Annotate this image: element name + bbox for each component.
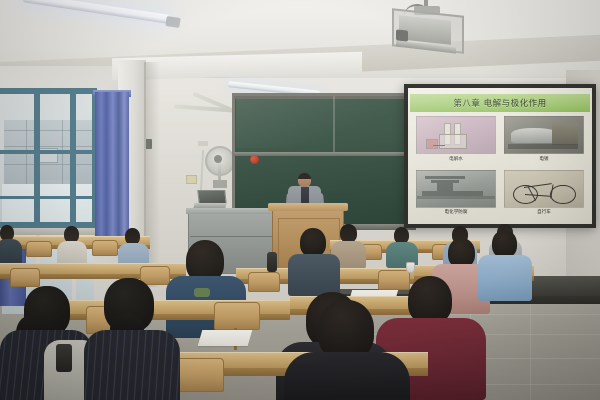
lectern-top [268, 203, 348, 211]
water-bottle [267, 252, 277, 272]
chair-back [26, 241, 52, 257]
thumbnail-electroplating [504, 116, 584, 154]
thumbnail-caption: 电化学防腐 [445, 209, 468, 215]
av-console-seam [190, 236, 284, 237]
laptop-keyboard [193, 203, 226, 208]
chalkboard-glare [236, 98, 410, 148]
window-mullion [70, 88, 76, 229]
lecturer-head [298, 173, 311, 187]
thumbnail-electrolysis-of-water [416, 116, 496, 154]
slide-thumbnail-cell: 电化学防腐 [416, 170, 496, 221]
screen-surface: 第八章 电解与极化作用 电解水 [408, 88, 592, 224]
wall-fan-bracket [213, 180, 227, 188]
slide-thumbnail-cell: 电镀 [504, 116, 584, 167]
slide-thumbnail-grid: 电解水 电镀 [416, 116, 584, 220]
thumbnail-bicycle [504, 170, 584, 208]
light-end-cap [165, 16, 180, 28]
window-sill [0, 228, 98, 235]
presenter-laptop [197, 190, 226, 204]
wall-clock-or-marker [250, 155, 259, 164]
window-transom [0, 196, 96, 199]
slide-title-bar: 第八章 电解与极化作用 [410, 94, 590, 112]
chalkboard-rail [234, 96, 412, 99]
window-curtain [95, 92, 129, 244]
window-frame [0, 88, 96, 94]
slide-thumbnail-cell: 自行车 [504, 170, 584, 221]
window-mullion [34, 88, 40, 229]
chair-back [378, 270, 410, 290]
chair-back [248, 272, 280, 292]
wall-fitting [198, 141, 208, 146]
thumbnail-caption: 电镀 [539, 156, 548, 162]
wall-outlet [186, 175, 197, 184]
thumbnail-caption: 自行车 [537, 209, 551, 215]
chair-back [92, 240, 118, 256]
water-bottle [56, 344, 72, 372]
window-transom [0, 150, 96, 154]
chair-back [214, 302, 260, 330]
handout-paper [198, 330, 253, 346]
projection-screen: 第八章 电解与极化作用 电解水 [404, 84, 596, 228]
slide-title: 第八章 电解与极化作用 [453, 97, 546, 109]
thumbnail-corrosion-protection [416, 170, 496, 208]
slide-thumbnail-cell: 电解水 [416, 116, 496, 167]
wall-fan-hub [214, 155, 222, 163]
chair-back [10, 268, 40, 287]
lecture-hall-photo: 第八章 电解与极化作用 电解水 [0, 0, 600, 400]
thumbnail-caption: 电解水 [449, 156, 463, 162]
chalkboard-panel-edge [333, 96, 335, 152]
chalkboard-rail [234, 152, 412, 156]
paper-cup [406, 262, 415, 273]
